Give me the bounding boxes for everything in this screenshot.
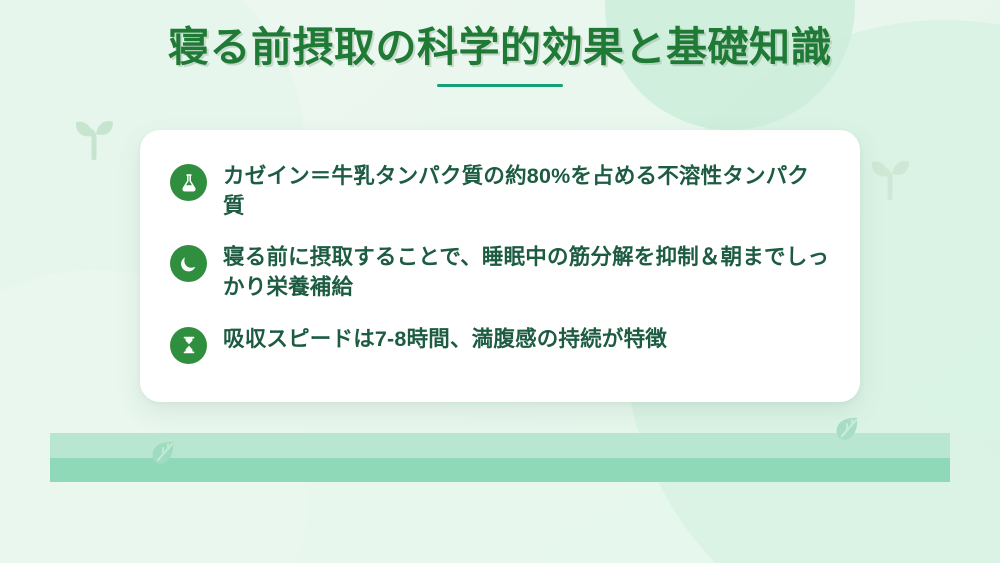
flask-icon	[170, 164, 207, 201]
list-item-label: 吸収スピードは7-8時間、満腹感の持続が特徴	[223, 325, 667, 355]
list-item: カゼイン＝牛乳タンパク質の約80%を占める不溶性タンパク質	[170, 162, 830, 221]
sprout-icon	[72, 112, 116, 165]
list-item-label: 寝る前に摂取することで、睡眠中の筋分解を抑制＆朝までしっかり栄養補給	[223, 243, 830, 302]
list-item: 吸収スピードは7-8時間、満腹感の持続が特徴	[170, 325, 830, 364]
slide-canvas: 寝る前摂取の科学的効果と基礎知識 カゼイン＝牛乳タンパク質の約80%を占める不溶…	[0, 0, 1000, 563]
title-underline	[437, 84, 563, 87]
page-title: 寝る前摂取の科学的効果と基礎知識	[168, 22, 832, 73]
content-card: カゼイン＝牛乳タンパク質の約80%を占める不溶性タンパク質 寝る前に摂取すること…	[140, 130, 860, 402]
bullet-list: カゼイン＝牛乳タンパク質の約80%を占める不溶性タンパク質 寝る前に摂取すること…	[170, 162, 830, 364]
moon-icon	[170, 245, 207, 282]
title-block: 寝る前摂取の科学的効果と基礎知識	[0, 22, 1000, 73]
list-item: 寝る前に摂取することで、睡眠中の筋分解を抑制＆朝までしっかり栄養補給	[170, 243, 830, 302]
bottom-band-light	[50, 433, 950, 458]
list-item-label: カゼイン＝牛乳タンパク質の約80%を占める不溶性タンパク質	[223, 162, 830, 221]
hourglass-icon	[170, 327, 207, 364]
bottom-band-dark	[50, 458, 950, 482]
sprout-icon	[868, 152, 912, 205]
